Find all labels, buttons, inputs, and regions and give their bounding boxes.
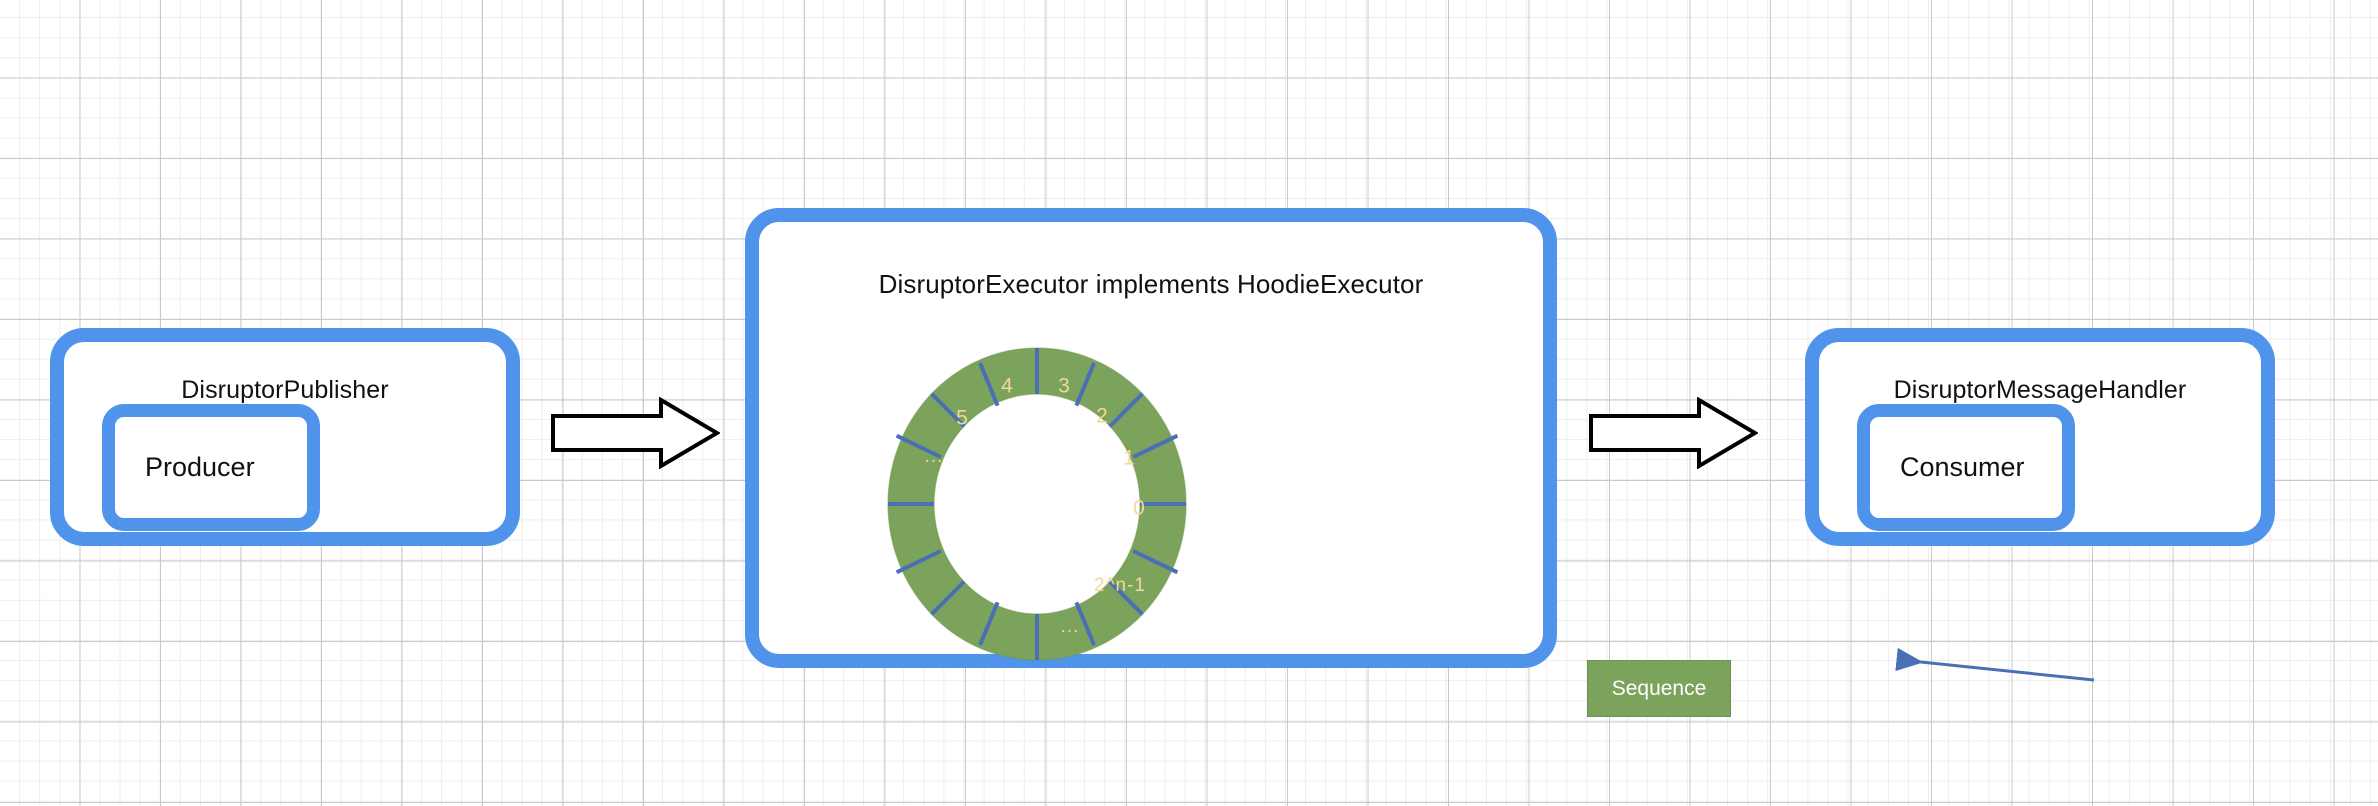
disruptor-executor-title: DisruptorExecutor implements HoodieExecu… [759, 269, 1543, 300]
disruptor-publisher-box[interactable]: DisruptorPublisher Producer [50, 328, 520, 546]
ring-buffer: 3 2 1 0 2^n-1 ... ... 5 4 [877, 337, 1197, 672]
disruptor-message-handler-box[interactable]: DisruptorMessageHandler Consumer [1805, 328, 2275, 546]
sequence-connector-line [1901, 660, 2094, 680]
ring-slot-3: 3 [1058, 375, 1070, 398]
ring-buffer-svg: 3 2 1 0 2^n-1 ... ... 5 4 [877, 337, 1197, 672]
disruptor-executor-box[interactable]: DisruptorExecutor implements HoodieExecu… [745, 208, 1557, 668]
ring-slot-2n-1: 2^n-1 [1094, 575, 1146, 596]
block-arrow-shape [553, 400, 717, 466]
ring-slot-4: 4 [1001, 375, 1013, 398]
ring-slot-ellipsis-left: ... [925, 446, 944, 467]
ring-slot-0: 0 [1133, 497, 1145, 520]
producer-label: Producer [115, 452, 255, 483]
ring-slot-ellipsis-bottom: ... [1061, 616, 1080, 637]
diagram-canvas: DisruptorPublisher Producer DisruptorExe… [0, 0, 2378, 806]
sequence-box[interactable]: Sequence [1587, 660, 1731, 717]
block-arrow-shape [1591, 400, 1755, 466]
sequence-connector-arrow [1891, 642, 2101, 702]
flow-arrow-executor-to-handler [1588, 397, 1758, 469]
ring-slot-2: 2 [1096, 405, 1108, 428]
ring-slot-1: 1 [1123, 447, 1135, 470]
producer-box[interactable]: Producer [102, 404, 320, 531]
disruptor-message-handler-title: DisruptorMessageHandler [1819, 376, 2261, 405]
flow-arrow-publisher-to-executor [550, 397, 720, 469]
disruptor-publisher-title: DisruptorPublisher [64, 376, 506, 405]
sequence-label: Sequence [1612, 677, 1707, 701]
consumer-box[interactable]: Consumer [1857, 404, 2075, 531]
consumer-label: Consumer [1870, 452, 2025, 483]
ring-slot-5: 5 [956, 407, 968, 430]
